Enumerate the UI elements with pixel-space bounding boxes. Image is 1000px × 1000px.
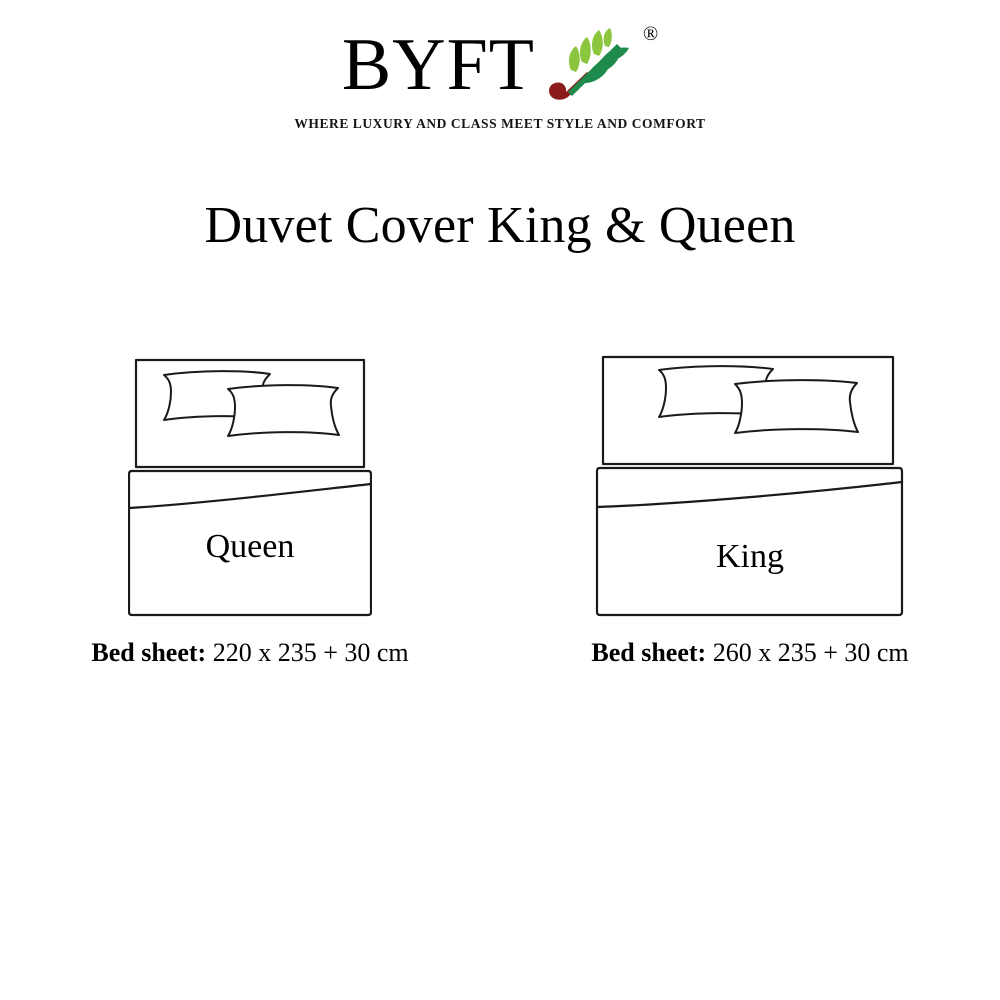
registered-trademark-symbol: ®	[643, 22, 658, 44]
bed-caption-value-queen: 220 x 235 + 30 cm	[213, 638, 409, 667]
king-bed-illustration	[545, 340, 955, 625]
bed-caption-value-king: 260 x 235 + 30 cm	[713, 638, 909, 667]
bed-caption-king: Bed sheet: 260 x 235 + 30 cm	[545, 638, 955, 668]
brand-header: BYFT ® WHERE LUXURY AND CLASS MEET STYLE…	[0, 22, 1000, 132]
brand-wordmark: BYFT	[342, 22, 535, 100]
queen-bed-illustration	[40, 340, 460, 620]
brand-tagline: WHERE LUXURY AND CLASS MEET STYLE AND CO…	[0, 116, 1000, 132]
bed-diagram-king: King Bed sheet: 260 x 235 + 30 cm	[545, 340, 955, 625]
bed-caption-label-king: Bed sheet:	[591, 638, 706, 667]
page-title: Duvet Cover King & Queen	[0, 196, 1000, 255]
bed-diagram-queen: Queen Bed sheet: 220 x 235 + 30 cm	[40, 340, 460, 620]
wheat-leaf-sprig-icon	[541, 22, 637, 108]
bed-caption-queen: Bed sheet: 220 x 235 + 30 cm	[40, 638, 460, 668]
bed-diagrams-row: Queen Bed sheet: 220 x 235 + 30 cm	[0, 340, 1000, 680]
brand-lockup: BYFT ®	[342, 22, 658, 108]
bed-caption-label-queen: Bed sheet:	[91, 638, 206, 667]
